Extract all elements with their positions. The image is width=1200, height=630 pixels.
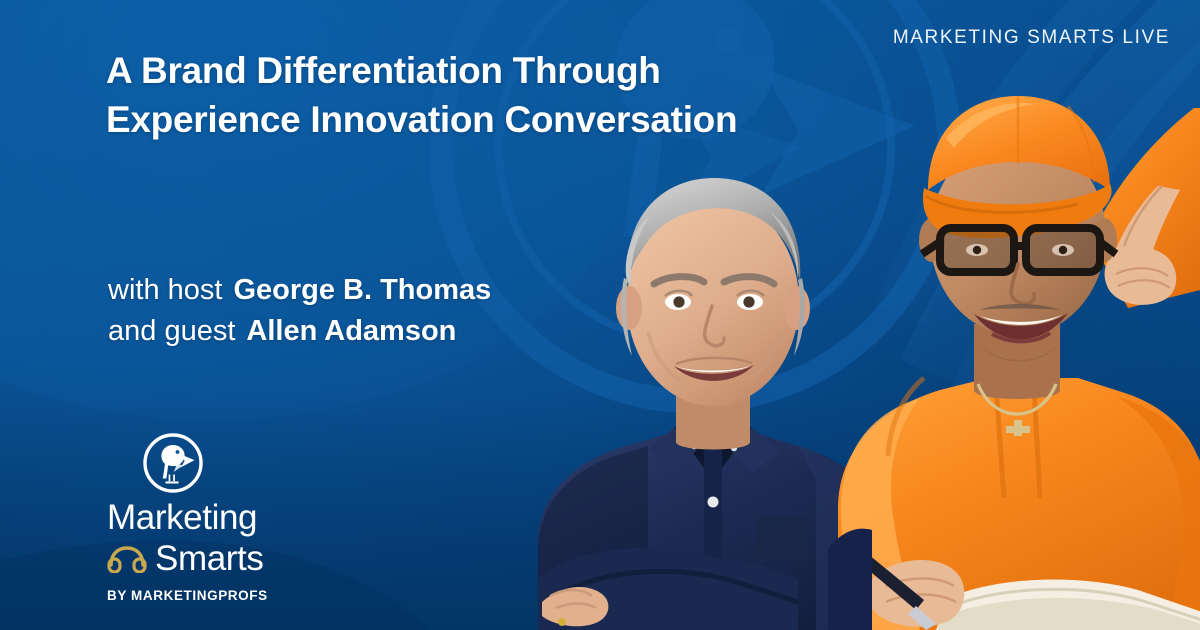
promo-graphic: MARKETING SMARTS LIVE A Brand Differenti… [0, 0, 1200, 630]
kicker-label: MARKETING SMARTS LIVE [893, 27, 1170, 49]
credits-block: with hostGeorge B. Thomas and guestAllen… [108, 270, 491, 352]
title-line-1: A Brand Differentiation Through [106, 46, 896, 95]
guest-portrait [828, 78, 1200, 630]
logo-word-smarts: Smarts [155, 541, 263, 576]
logo-byline: BY MARKETINGPROFS [107, 588, 317, 603]
guest-credit: and guestAllen Adamson [108, 311, 491, 352]
host-credit: with hostGeorge B. Thomas [108, 270, 491, 311]
headphones-icon [107, 545, 147, 573]
bird-in-circle-icon [142, 432, 204, 494]
host-prefix: with host [108, 274, 222, 306]
host-name: George B. Thomas [233, 274, 491, 306]
title-line-2: Experience Innovation Conversation [106, 95, 896, 144]
page-title: A Brand Differentiation Through Experien… [106, 46, 896, 144]
guest-prefix: and guest [108, 315, 235, 347]
marketing-smarts-logo: Marketing Smarts BY MARKETINGPROFS [107, 432, 317, 603]
logo-word-marketing: Marketing [107, 500, 317, 535]
guest-name: Allen Adamson [246, 315, 456, 347]
